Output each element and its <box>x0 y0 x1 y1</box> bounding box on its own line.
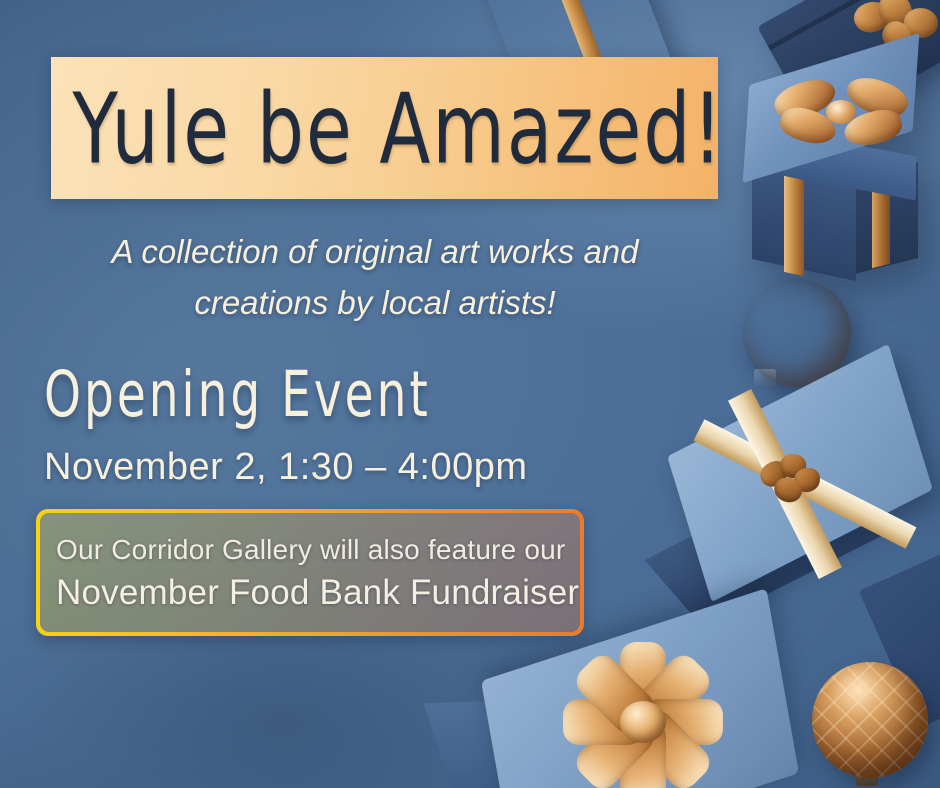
subtitle-line-2: creations by local artists! <box>60 277 690 328</box>
event-date-time: November 2, 1:30 – 4:00pm <box>44 446 528 489</box>
opening-event-heading: Opening Event <box>44 358 431 432</box>
fundraiser-callout-box: Our Corridor Gallery will also feature o… <box>36 509 584 636</box>
fundraiser-callout-inner: Our Corridor Gallery will also feature o… <box>40 513 580 632</box>
poster-subtitle: A collection of original art works and c… <box>60 226 690 328</box>
fundraiser-line-1: Our Corridor Gallery will also feature o… <box>56 530 580 570</box>
poster-canvas: Yule be Amazed! A collection of original… <box>0 0 940 788</box>
poster-content: Yule be Amazed! A collection of original… <box>0 0 940 788</box>
title-banner: Yule be Amazed! <box>51 57 718 199</box>
fundraiser-line-2: November Food Bank Fundraiser <box>56 570 580 616</box>
subtitle-line-1: A collection of original art works and <box>60 226 690 277</box>
poster-title: Yule be Amazed! <box>51 71 724 185</box>
